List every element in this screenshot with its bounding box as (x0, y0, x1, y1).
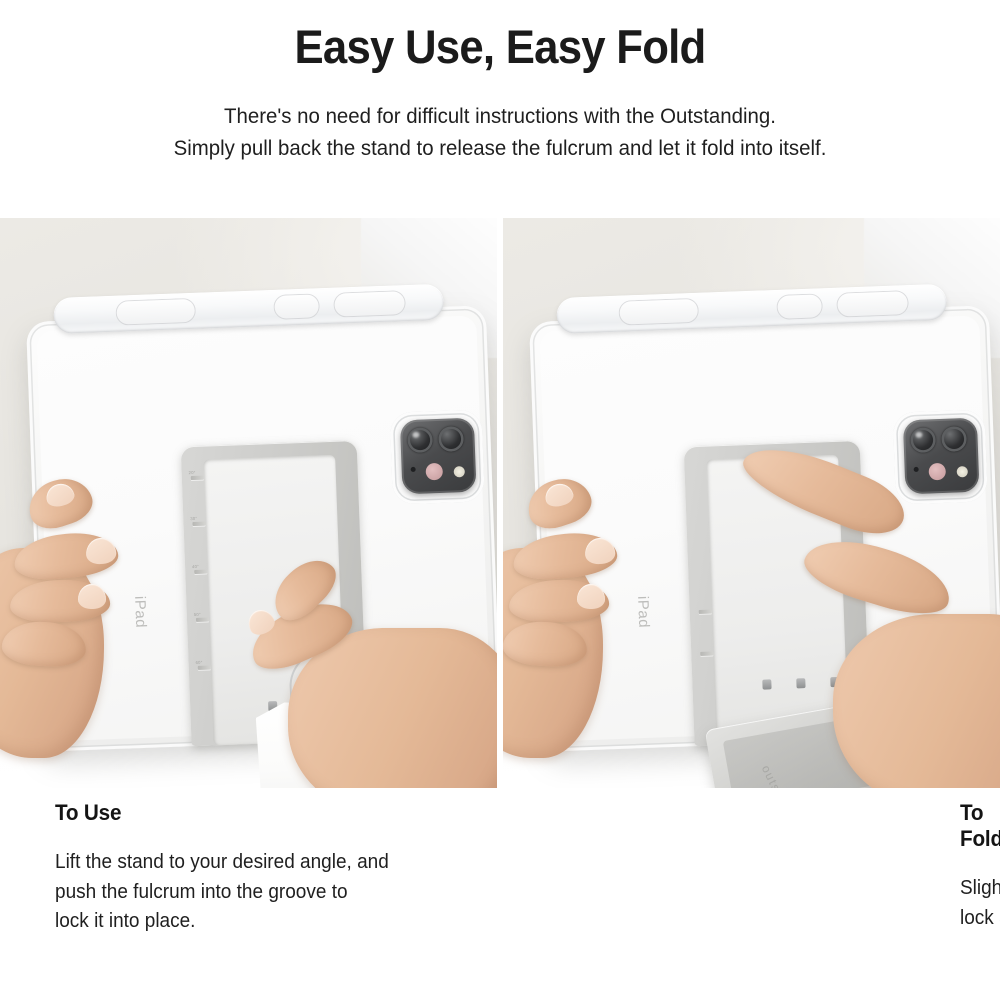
angle-label-3: 50° (194, 612, 201, 617)
subtitle-line-1: There's no need for difficult instructio… (25, 100, 975, 133)
angle-label-0: 20° (189, 470, 196, 475)
caption-to-use: To Use Lift the stand to your desired an… (0, 800, 460, 937)
caption-line-2: push the fulcrum into the groove to (55, 878, 402, 908)
camera-lens-ultrawide-icon (941, 426, 967, 452)
subtitle-line-2: Simply pull back the stand to release th… (25, 132, 975, 165)
ipad-wordmark: iPad (131, 596, 149, 629)
angle-label-2: 40° (192, 564, 199, 569)
header: Easy Use, Easy Fold There's no need for … (0, 0, 1000, 165)
angle-label-4: 60° (196, 660, 203, 665)
caption-body-to-use: Lift the stand to your desired angle, an… (55, 848, 402, 937)
caption-line-1: Lift the stand to your desired angle, an… (55, 848, 402, 878)
infographic-page: Easy Use, Easy Fold There's no need for … (0, 0, 1000, 1000)
page-subtitle: There's no need for difficult instructio… (25, 100, 975, 165)
lidar-sensor-icon (425, 463, 443, 481)
flash-icon (957, 466, 968, 477)
photo-to-fold: iPad (503, 218, 1000, 788)
microphone-icon (411, 467, 416, 472)
camera-lens-wide-icon (910, 427, 936, 453)
microphone-icon (914, 467, 919, 472)
captions-row: To Use Lift the stand to your desired an… (0, 800, 1000, 937)
camera-module-icon (400, 418, 477, 495)
angle-label-1: 30° (190, 516, 197, 521)
page-title: Easy Use, Easy Fold (35, 22, 965, 72)
lidar-sensor-icon (928, 463, 946, 481)
camera-lens-ultrawide-icon (438, 426, 464, 452)
camera-lens-wide-icon (407, 427, 433, 453)
caption-line-3: lock it into place. (55, 907, 402, 937)
caption-to-fold: To Fold Slightly lift the stand and rele… (404, 800, 1000, 937)
camera-module-icon (903, 418, 980, 495)
photo-to-use: iPad 20° 30° (0, 218, 497, 788)
caption-heading-to-use: To Use (55, 800, 398, 826)
flash-icon (454, 466, 465, 477)
photo-strip: iPad 20° 30° (0, 218, 1000, 788)
ipad-wordmark: iPad (634, 596, 652, 629)
